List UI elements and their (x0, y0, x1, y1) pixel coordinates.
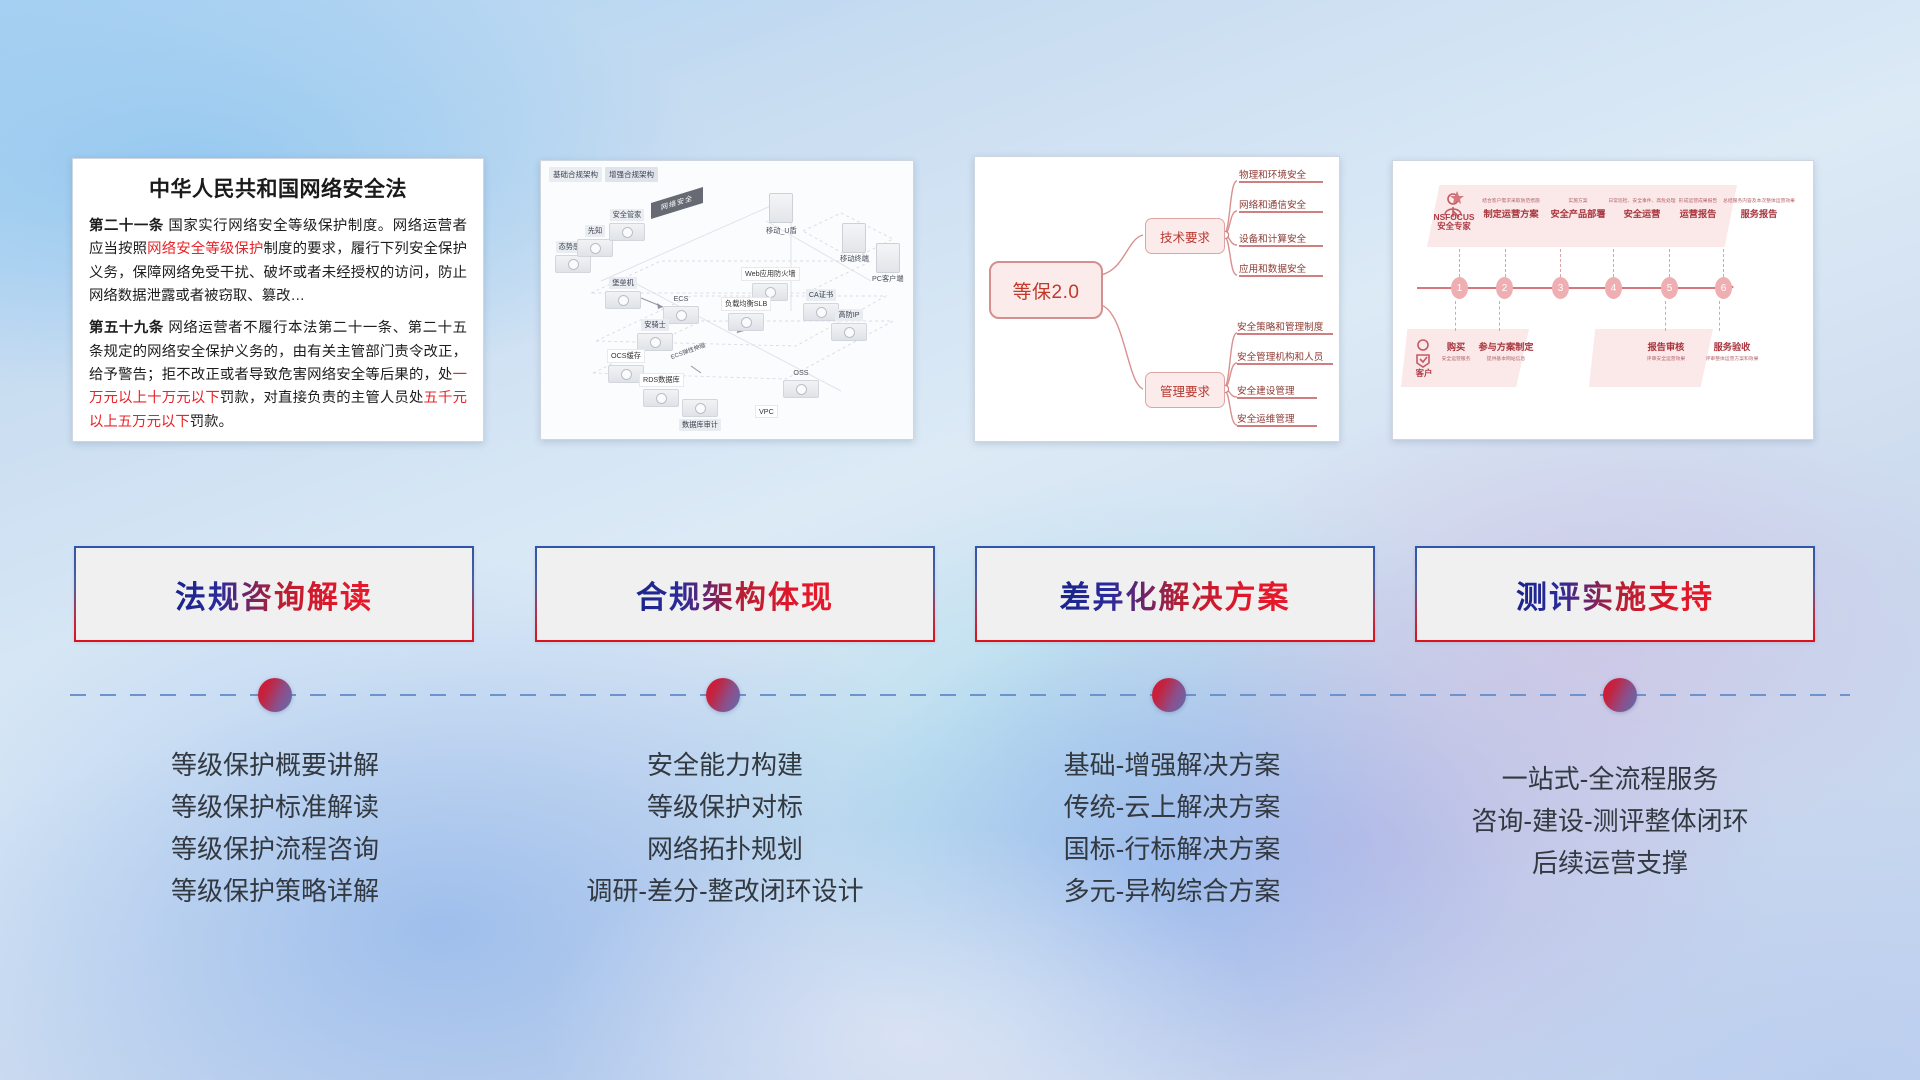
heading-box-compliance-architecture[interactable]: 合规架构体现 (535, 546, 935, 642)
column-item: 等级保护策略详解 (65, 870, 485, 912)
heading-box-differentiated-solution[interactable]: 差异化解决方案 (975, 546, 1375, 642)
column-item: 等级保护对标 (515, 786, 935, 828)
column-regulation-consulting: 等级保护概要讲解 等级保护标准解读 等级保护流程咨询 等级保护策略详解 (65, 744, 485, 912)
column-item: 多元-异构综合方案 (962, 870, 1382, 912)
heading-box-evaluation-support[interactable]: 测评实施支持 (1415, 546, 1815, 642)
column-item: 等级保护标准解读 (65, 786, 485, 828)
column-item: 国标-行标解决方案 (962, 828, 1382, 870)
column-item: 后续运营支撑 (1400, 842, 1820, 884)
heading-box-regulation-consulting[interactable]: 法规咨询解读 (74, 546, 474, 642)
heading-label: 测评实施支持 (1516, 572, 1714, 617)
timeline-node-4[interactable] (1603, 678, 1637, 712)
column-compliance-architecture: 安全能力构建 等级保护对标 网络拓扑规划 调研-差分-整改闭环设计 (515, 744, 935, 912)
column-item: 网络拓扑规划 (515, 828, 935, 870)
column-item: 安全能力构建 (515, 744, 935, 786)
column-item: 等级保护流程咨询 (65, 828, 485, 870)
column-item: 调研-差分-整改闭环设计 (515, 870, 935, 912)
timeline-node-2[interactable] (706, 678, 740, 712)
timeline-node-1[interactable] (258, 678, 292, 712)
heading-row: 法规咨询解读 合规架构体现 差异化解决方案 测评实施支持 (0, 0, 1920, 1080)
heading-label: 法规咨询解读 (175, 572, 373, 617)
column-evaluation-support: 一站式-全流程服务 咨询-建设-测评整体闭环 后续运营支撑 (1400, 758, 1820, 884)
column-item: 咨询-建设-测评整体闭环 (1400, 800, 1820, 842)
column-item: 传统-云上解决方案 (962, 786, 1382, 828)
column-item: 一站式-全流程服务 (1400, 758, 1820, 800)
heading-label: 合规架构体现 (636, 572, 834, 617)
timeline-dashed-line (70, 694, 1850, 696)
column-item: 基础-增强解决方案 (962, 744, 1382, 786)
heading-label: 差异化解决方案 (1060, 572, 1291, 617)
timeline-node-3[interactable] (1152, 678, 1186, 712)
column-differentiated-solution: 基础-增强解决方案 传统-云上解决方案 国标-行标解决方案 多元-异构综合方案 (962, 744, 1382, 912)
column-item: 等级保护概要讲解 (65, 744, 485, 786)
